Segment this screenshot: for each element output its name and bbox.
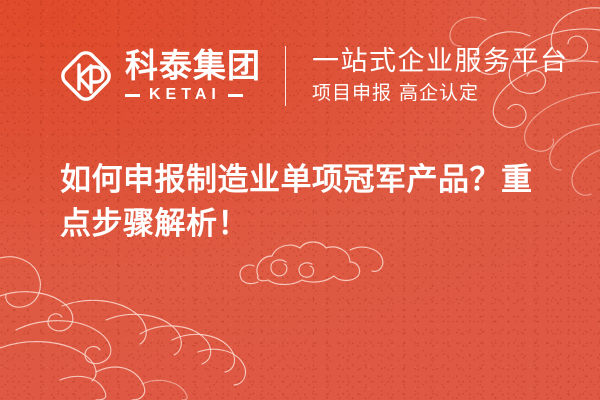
logo-dash-right-icon <box>228 94 243 97</box>
logo-chinese-name: 科泰集团 <box>125 49 261 82</box>
tagline-main: 一站式企业服务平台 <box>312 48 569 77</box>
banner-header: 科泰集团 KETAI 一站式企业服务平台 项目申报 高企认定 <box>58 38 569 114</box>
promo-banner: 科泰集团 KETAI 一站式企业服务平台 项目申报 高企认定 如何申报制造业单项… <box>0 0 600 400</box>
headline-title: 如何申报制造业单项冠军产品？重点步骤解析！ <box>60 158 560 246</box>
logo-dash-left-icon <box>125 94 140 97</box>
ketai-diamond-kp-monogram-icon <box>58 48 114 104</box>
logo-english-name: KETAI <box>140 87 228 103</box>
logo-english-row: KETAI <box>125 87 261 103</box>
tagline-sub: 项目申报 高企认定 <box>312 83 569 104</box>
logo-wordmark: 科泰集团 KETAI <box>125 49 261 103</box>
brand-logo[interactable]: 科泰集团 KETAI <box>58 48 261 104</box>
tagline-block: 一站式企业服务平台 项目申报 高企认定 <box>312 48 569 105</box>
vertical-divider <box>285 46 286 106</box>
